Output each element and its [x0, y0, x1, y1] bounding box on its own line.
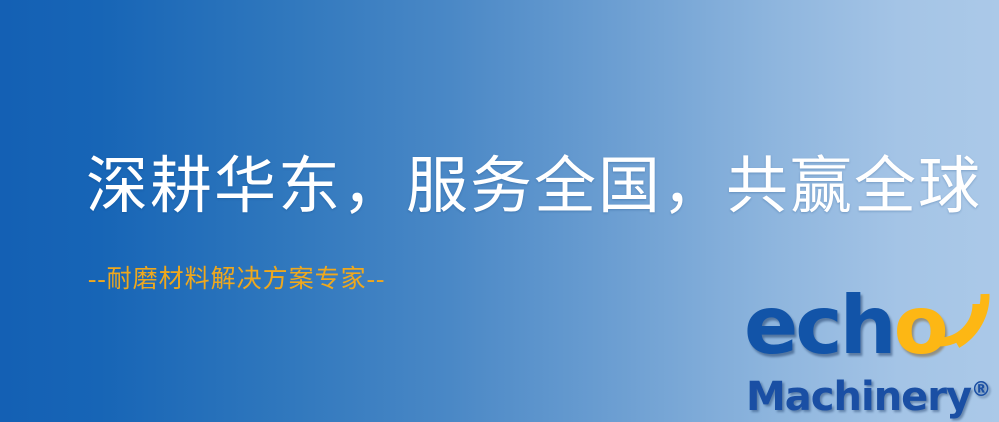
logo-wordmark-text: echo	[744, 286, 946, 366]
promo-banner: 深耕华东，服务全国，共赢全球 --耐磨材料解决方案专家-- echo Machi…	[0, 0, 999, 422]
banner-subtitle: --耐磨材料解决方案专家--	[88, 265, 385, 295]
signal-arcs-icon	[927, 290, 993, 352]
logo-tagline-text: Machinery	[746, 374, 971, 420]
logo-wordmark-prefix: ech	[744, 279, 894, 372]
banner-headline: 深耕华东，服务全国，共赢全球	[86, 152, 982, 222]
registered-trademark-icon: ®	[971, 377, 991, 401]
echo-machinery-logo: echo Machinery®	[742, 292, 994, 418]
logo-tagline: Machinery®	[746, 366, 991, 420]
logo-wordmark: echo	[742, 292, 994, 372]
